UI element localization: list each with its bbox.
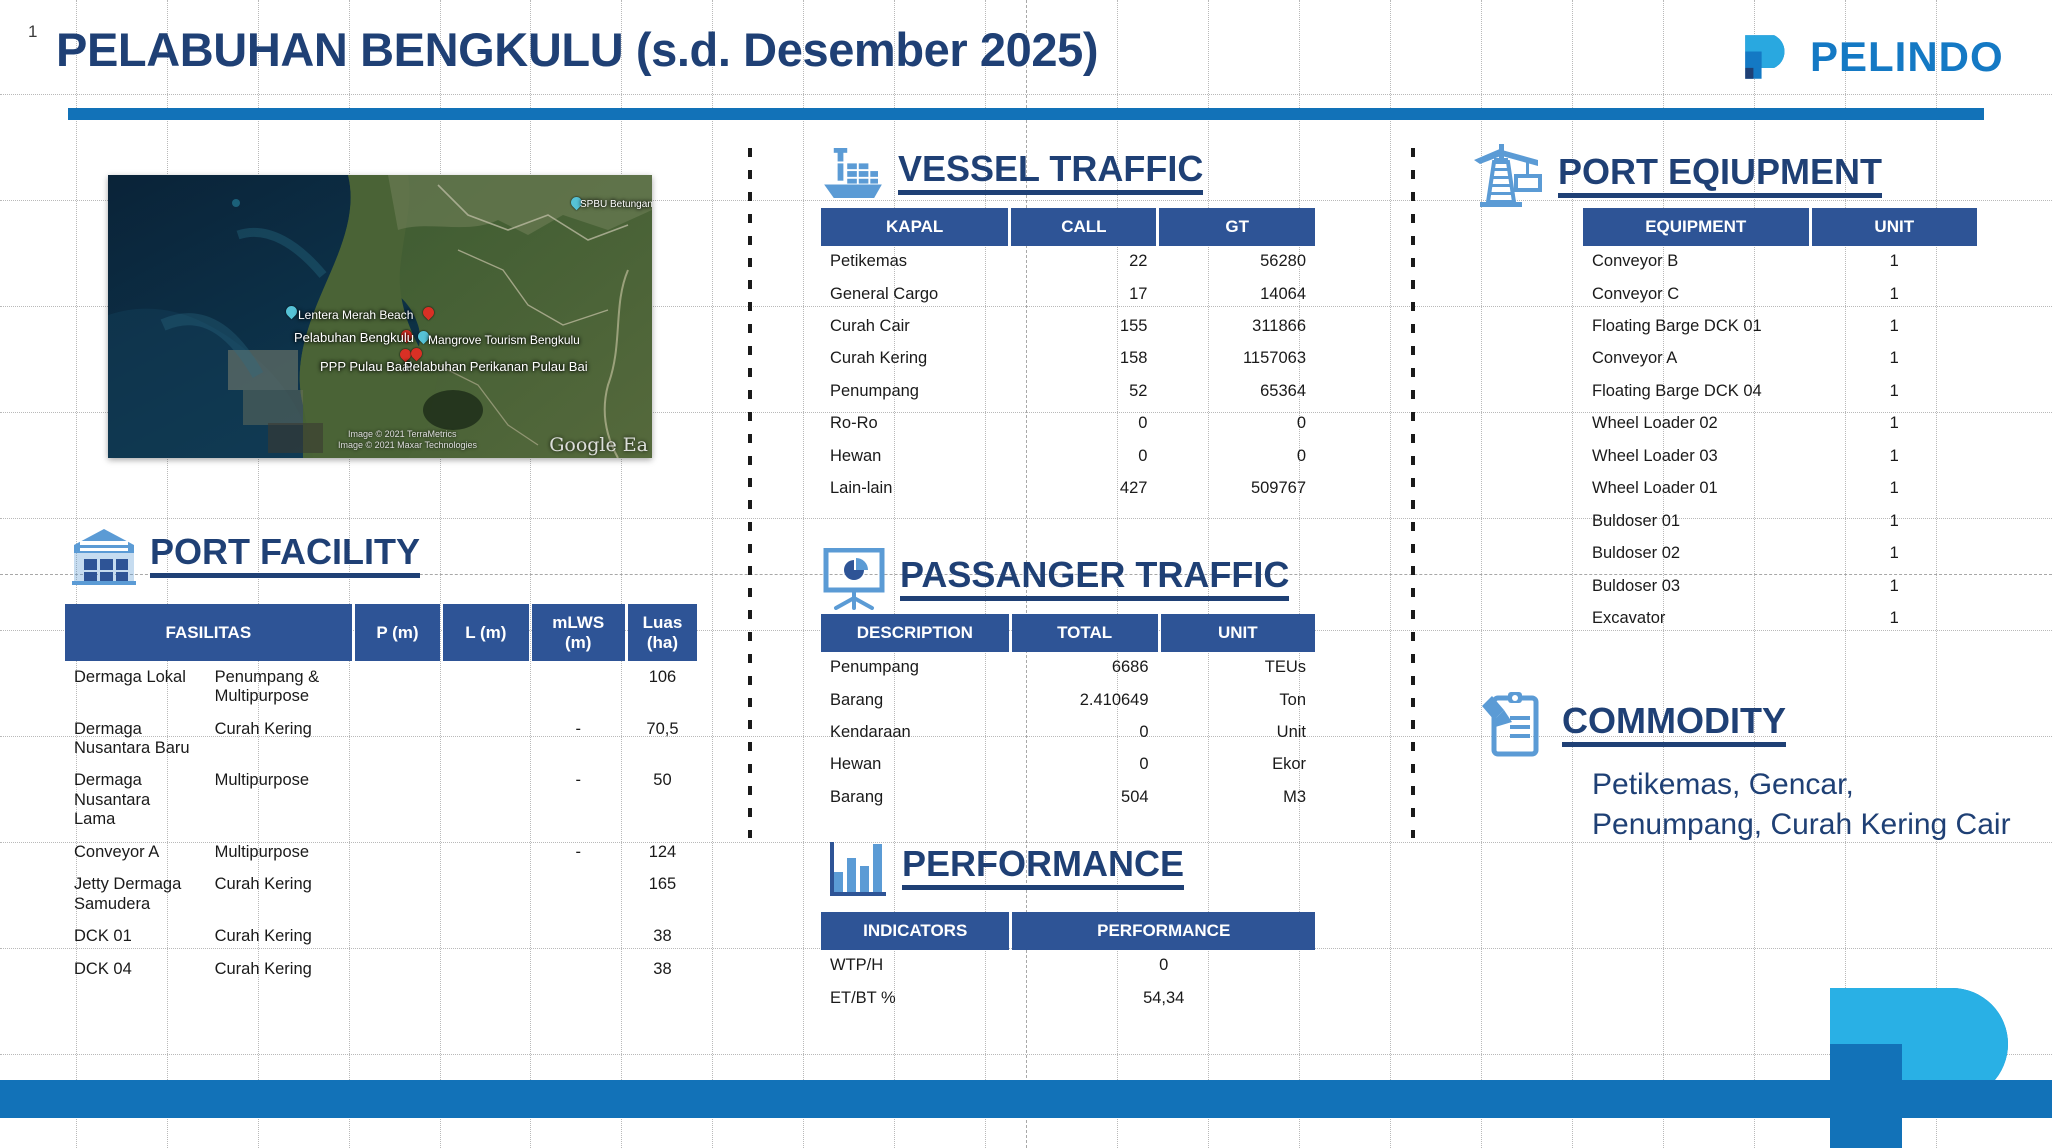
table-row: Buldoser 021 <box>1583 538 1977 570</box>
cell-p <box>355 921 440 953</box>
cell-l <box>443 836 528 868</box>
section-title-port-facility: PORT FACILITY <box>150 534 420 578</box>
section-header-port-facility: PORT FACILITY <box>72 527 420 585</box>
cell-name: DCK 04 <box>65 953 203 985</box>
pelindo-logo: PELINDO <box>1738 28 2004 86</box>
google-watermark: Google Ea <box>549 434 648 456</box>
cell-p <box>355 765 440 836</box>
cell-l <box>443 921 528 953</box>
table-header-row: EQUIPMENT UNIT <box>1583 208 1977 246</box>
cell-equipment: Conveyor A <box>1583 343 1809 375</box>
cell-l <box>443 661 528 713</box>
map-label-spbu: SPBU Betungan 24.3821 <box>580 199 652 210</box>
map-label-mangrove: Mangrove Tourism Bengkulu <box>428 333 580 347</box>
cell-luas: 38 <box>628 953 697 985</box>
section-title-vessel-traffic: VESSEL TRAFFIC <box>898 151 1203 195</box>
cell-unit: TEUs <box>1161 652 1315 684</box>
map-credit-terrametrics: Image © 2021 TerraMetrics <box>348 429 457 439</box>
table-row: Curah Kering1581157063 <box>821 343 1315 375</box>
section-header-port-equipment: PORT EQIUPMENT <box>1466 140 1882 212</box>
cell-unit: 1 <box>1812 538 1977 570</box>
commodity-text: Petikemas, Gencar, Penumpang, Curah Keri… <box>1592 765 2022 844</box>
cell-description: Hewan <box>821 749 1009 781</box>
column-separator-left <box>748 148 752 838</box>
table-row: DCK 01Curah Kering38 <box>65 921 697 953</box>
table-header-row: FASILITAS P (m) L (m) mLWS (m) Luas (ha) <box>65 604 697 661</box>
cell-unit: 1 <box>1812 375 1977 407</box>
cell-l <box>443 953 528 985</box>
cell-gt: 0 <box>1159 408 1315 440</box>
cell-equipment: Wheel Loader 02 <box>1583 408 1809 440</box>
section-title-port-equipment: PORT EQIUPMENT <box>1558 154 1882 198</box>
cell-type: Multipurpose <box>206 836 352 868</box>
col-unit: UNIT <box>1161 614 1315 652</box>
table-row: Barang2.410649Ton <box>821 684 1315 716</box>
cell-kapal: Curah Kering <box>821 343 1008 375</box>
col-p: P (m) <box>355 604 440 661</box>
cell-indicator: ET/BT % <box>821 982 1009 1014</box>
cell-gt: 0 <box>1159 440 1315 472</box>
map-label-ppp: PPP Pulau Baai <box>320 359 412 374</box>
cell-description: Barang <box>821 684 1009 716</box>
cell-unit: M3 <box>1161 781 1315 813</box>
cell-total: 2.410649 <box>1012 684 1158 716</box>
cell-type: Curah Kering <box>206 713 352 765</box>
col-total: TOTAL <box>1012 614 1158 652</box>
table-row: Conveyor AMultipurpose-124 <box>65 836 697 868</box>
footer-bar <box>0 1080 2052 1118</box>
map-credit-maxar: Image © 2021 Maxar Technologies <box>338 440 477 450</box>
passenger-traffic-table: DESCRIPTION TOTAL UNIT Penumpang6686TEUs… <box>818 614 1318 814</box>
col-gt: GT <box>1159 208 1315 246</box>
cell-equipment: Buldoser 02 <box>1583 538 1809 570</box>
cell-mlws <box>532 921 625 953</box>
cell-call: 155 <box>1011 310 1156 342</box>
cell-unit: Unit <box>1161 716 1315 748</box>
cell-mlws: - <box>532 765 625 836</box>
table-row: Penumpang5265364 <box>821 375 1315 407</box>
cell-equipment: Buldoser 01 <box>1583 505 1809 537</box>
cell-value: 0 <box>1012 950 1315 982</box>
cell-type: Curah Kering <box>206 869 352 921</box>
map-label-perikanan: Pelabuhan Perikanan Pulau Bai <box>404 359 588 374</box>
cell-kapal: Petikemas <box>821 246 1008 278</box>
cell-call: 17 <box>1011 278 1156 310</box>
section-title-commodity: COMMODITY <box>1562 703 1786 747</box>
table-row: Buldoser 031 <box>1583 570 1977 602</box>
cell-unit: 1 <box>1812 343 1977 375</box>
cell-call: 158 <box>1011 343 1156 375</box>
cell-gt: 509767 <box>1159 473 1315 505</box>
cell-luas: 50 <box>628 765 697 836</box>
cell-value: 54,34 <box>1012 982 1315 1014</box>
cell-type: Curah Kering <box>206 921 352 953</box>
cell-total: 0 <box>1012 716 1158 748</box>
cell-luas: 106 <box>628 661 697 713</box>
col-kapal: KAPAL <box>821 208 1008 246</box>
table-row: General Cargo1714064 <box>821 278 1315 310</box>
cell-equipment: Floating Barge DCK 04 <box>1583 375 1809 407</box>
section-header-passenger-traffic: PASSANGER TRAFFIC <box>822 548 1289 610</box>
cell-unit: 1 <box>1812 505 1977 537</box>
crane-icon <box>1466 140 1544 212</box>
table-row: Buldoser 011 <box>1583 505 1977 537</box>
column-separator-right <box>1411 148 1415 838</box>
vessel-traffic-table: KAPAL CALL GT Petikemas2256280 General C… <box>818 208 1318 505</box>
cell-equipment: Excavator <box>1583 603 1809 635</box>
cell-unit: 1 <box>1812 278 1977 310</box>
table-header-row: KAPAL CALL GT <box>821 208 1315 246</box>
cell-l <box>443 869 528 921</box>
cell-gt: 1157063 <box>1159 343 1315 375</box>
table-row: Jetty Dermaga SamuderaCurah Kering165 <box>65 869 697 921</box>
table-row: Floating Barge DCK 011 <box>1583 310 1977 342</box>
table-row: Kendaraan0Unit <box>821 716 1315 748</box>
cell-call: 0 <box>1011 440 1156 472</box>
cell-kapal: Lain-lain <box>821 473 1008 505</box>
cell-mlws: - <box>532 713 625 765</box>
table-row: Penumpang6686TEUs <box>821 652 1315 684</box>
map-label-lentera: Lentera Merah Beach <box>298 308 413 322</box>
section-header-commodity: COMMODITY <box>1478 692 1786 758</box>
pelindo-watermark-mark <box>1802 958 2052 1148</box>
cell-kapal: Curah Cair <box>821 310 1008 342</box>
table-row: Curah Cair155311866 <box>821 310 1315 342</box>
cell-total: 6686 <box>1012 652 1158 684</box>
port-equipment-table: EQUIPMENT UNIT Conveyor B1 Conveyor C1 F… <box>1580 208 1980 635</box>
performance-table: INDICATORS PERFORMANCE WTP/H0 ET/BT %54,… <box>818 912 1318 1014</box>
table-row: Ro-Ro00 <box>821 408 1315 440</box>
table-row: Conveyor B1 <box>1583 246 1977 278</box>
cell-unit: 1 <box>1812 408 1977 440</box>
cell-mlws <box>532 661 625 713</box>
cell-name: Dermaga Lokal <box>65 661 203 713</box>
pelindo-mark-icon <box>1738 28 1796 86</box>
cell-p <box>355 713 440 765</box>
col-mlws: mLWS (m) <box>532 604 625 661</box>
cell-p <box>355 953 440 985</box>
section-title-passenger-traffic: PASSANGER TRAFFIC <box>900 557 1289 601</box>
cell-description: Penumpang <box>821 652 1009 684</box>
section-title-performance: PERFORMANCE <box>902 846 1184 890</box>
section-header-vessel-traffic: VESSEL TRAFFIC <box>822 148 1203 198</box>
cell-name: Jetty Dermaga Samudera <box>65 869 203 921</box>
cell-unit: 1 <box>1812 440 1977 472</box>
cell-equipment: Buldoser 03 <box>1583 570 1809 602</box>
cell-kapal: General Cargo <box>821 278 1008 310</box>
table-row: Dermaga LokalPenumpang & Multipurpose106 <box>65 661 697 713</box>
section-header-performance: PERFORMANCE <box>830 840 1184 896</box>
cell-luas: 165 <box>628 869 697 921</box>
col-indicators: INDICATORS <box>821 912 1009 950</box>
cell-unit: 1 <box>1812 246 1977 278</box>
cell-call: 52 <box>1011 375 1156 407</box>
table-row: Petikemas2256280 <box>821 246 1315 278</box>
cell-unit: Ekor <box>1161 749 1315 781</box>
cell-gt: 14064 <box>1159 278 1315 310</box>
slide-number: 1 <box>28 22 37 42</box>
cell-luas: 124 <box>628 836 697 868</box>
satellite-map: Lentera Merah Beach Pelabuhan Bengkulu M… <box>108 175 652 458</box>
cell-equipment: Conveyor B <box>1583 246 1809 278</box>
table-row: Hewan00 <box>821 440 1315 472</box>
cell-type: Curah Kering <box>206 953 352 985</box>
cell-name: Dermaga Nusantara Baru <box>65 713 203 765</box>
cell-type: Multipurpose <box>206 765 352 836</box>
bar-chart-icon <box>830 840 888 896</box>
col-l: L (m) <box>443 604 528 661</box>
table-row: Hewan0Ekor <box>821 749 1315 781</box>
cell-p <box>355 661 440 713</box>
logo-wordmark: PELINDO <box>1810 33 2004 81</box>
cell-call: 22 <box>1011 246 1156 278</box>
table-header-row: DESCRIPTION TOTAL UNIT <box>821 614 1315 652</box>
cell-mlws <box>532 953 625 985</box>
cell-p <box>355 869 440 921</box>
cell-mlws: - <box>532 836 625 868</box>
cell-gt: 311866 <box>1159 310 1315 342</box>
cell-total: 504 <box>1012 781 1158 813</box>
cell-luas: 38 <box>628 921 697 953</box>
cell-unit: 1 <box>1812 473 1977 505</box>
table-row: ET/BT %54,34 <box>821 982 1315 1014</box>
cell-indicator: WTP/H <box>821 950 1009 982</box>
cell-name: DCK 01 <box>65 921 203 953</box>
cell-unit: 1 <box>1812 570 1977 602</box>
cell-kapal: Ro-Ro <box>821 408 1008 440</box>
cell-kapal: Hewan <box>821 440 1008 472</box>
cell-equipment: Conveyor C <box>1583 278 1809 310</box>
col-performance: PERFORMANCE <box>1012 912 1315 950</box>
col-fasilitas: FASILITAS <box>65 604 352 661</box>
cell-call: 427 <box>1011 473 1156 505</box>
chart-presentation-icon <box>822 548 886 610</box>
table-header-row: INDICATORS PERFORMANCE <box>821 912 1315 950</box>
cell-gt: 56280 <box>1159 246 1315 278</box>
table-row: DCK 04Curah Kering38 <box>65 953 697 985</box>
table-row: Wheel Loader 011 <box>1583 473 1977 505</box>
cell-l <box>443 713 528 765</box>
cell-mlws <box>532 869 625 921</box>
port-facility-table: FASILITAS P (m) L (m) mLWS (m) Luas (ha)… <box>62 604 700 986</box>
warehouse-icon <box>72 527 136 585</box>
col-equipment: EQUIPMENT <box>1583 208 1809 246</box>
col-luas: Luas (ha) <box>628 604 697 661</box>
cell-description: Barang <box>821 781 1009 813</box>
table-row: Conveyor C1 <box>1583 278 1977 310</box>
table-row: Dermaga Nusantara LamaMultipurpose-50 <box>65 765 697 836</box>
table-row: Wheel Loader 021 <box>1583 408 1977 440</box>
table-row: Conveyor A1 <box>1583 343 1977 375</box>
table-row: WTP/H0 <box>821 950 1315 982</box>
cell-kapal: Penumpang <box>821 375 1008 407</box>
cell-equipment: Floating Barge DCK 01 <box>1583 310 1809 342</box>
cell-l <box>443 765 528 836</box>
table-row: Dermaga Nusantara BaruCurah Kering-70,5 <box>65 713 697 765</box>
cell-unit: 1 <box>1812 603 1977 635</box>
col-call: CALL <box>1011 208 1156 246</box>
cell-unit: 1 <box>1812 310 1977 342</box>
cell-equipment: Wheel Loader 03 <box>1583 440 1809 472</box>
cell-gt: 65364 <box>1159 375 1315 407</box>
map-label-pelabuhan: Pelabuhan Bengkulu <box>294 330 414 345</box>
col-description: DESCRIPTION <box>821 614 1009 652</box>
cell-unit: Ton <box>1161 684 1315 716</box>
cell-description: Kendaraan <box>821 716 1009 748</box>
page-title: PELABUHAN BENGKULU (s.d. Desember 2025) <box>56 22 1098 77</box>
clipboard-pencil-icon <box>1478 692 1548 758</box>
table-row: Barang504M3 <box>821 781 1315 813</box>
cell-call: 0 <box>1011 408 1156 440</box>
cell-name: Dermaga Nusantara Lama <box>65 765 203 836</box>
cell-p <box>355 836 440 868</box>
ship-icon <box>822 148 884 198</box>
table-row: Excavator1 <box>1583 603 1977 635</box>
cell-type: Penumpang & Multipurpose <box>206 661 352 713</box>
table-row: Lain-lain427509767 <box>821 473 1315 505</box>
cell-total: 0 <box>1012 749 1158 781</box>
cell-luas: 70,5 <box>628 713 697 765</box>
header-rule <box>68 108 1984 120</box>
table-row: Floating Barge DCK 041 <box>1583 375 1977 407</box>
cell-name: Conveyor A <box>65 836 203 868</box>
cell-equipment: Wheel Loader 01 <box>1583 473 1809 505</box>
table-row: Wheel Loader 031 <box>1583 440 1977 472</box>
col-unit: UNIT <box>1812 208 1977 246</box>
